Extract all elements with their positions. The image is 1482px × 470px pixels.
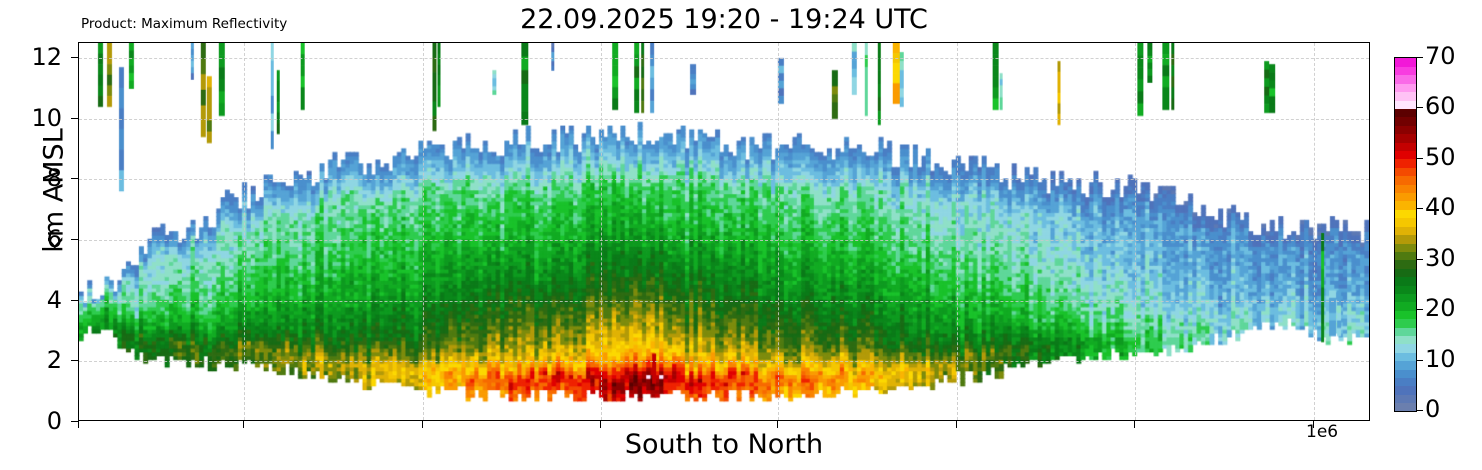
x-axis-label: South to North bbox=[78, 429, 1370, 460]
colorbar-segment bbox=[1395, 251, 1416, 260]
colorbar-tick-mark bbox=[1416, 208, 1423, 209]
x-tick-mark bbox=[777, 421, 778, 428]
colorbar-segment bbox=[1395, 75, 1416, 84]
colorbar-segment bbox=[1395, 226, 1416, 235]
colorbar-segment bbox=[1395, 352, 1416, 361]
colorbar[interactable] bbox=[1394, 57, 1417, 412]
colorbar-segment bbox=[1395, 92, 1416, 101]
plot-axes[interactable] bbox=[78, 42, 1370, 421]
colorbar-tick-mark bbox=[1416, 158, 1423, 159]
y-tick-mark bbox=[71, 57, 78, 58]
product-label: Product: Maximum Reflectivity bbox=[81, 16, 287, 32]
colorbar-segment bbox=[1395, 243, 1416, 252]
radar-cross-section-figure: 22.09.2025 19:20 - 19:24 UTC Product: Ma… bbox=[0, 0, 1482, 470]
x-tick-mark bbox=[1134, 421, 1135, 428]
colorbar-segment bbox=[1395, 260, 1416, 269]
colorbar-segment bbox=[1395, 218, 1416, 227]
y-tick-mark bbox=[71, 118, 78, 119]
colorbar-tick-mark bbox=[1416, 259, 1423, 260]
colorbar-segment bbox=[1395, 66, 1416, 75]
colorbar-tick-label: 20 bbox=[1425, 296, 1456, 320]
reflectivity-heatmap bbox=[79, 43, 1369, 420]
y-axis-label: km AMSL bbox=[39, 41, 70, 341]
colorbar-tick-label: 60 bbox=[1425, 94, 1456, 118]
colorbar-segment bbox=[1395, 125, 1416, 134]
colorbar-segment bbox=[1395, 293, 1416, 302]
colorbar-tick-mark bbox=[1416, 309, 1423, 310]
y-tick-mark bbox=[71, 178, 78, 179]
y-tick-label: 2 bbox=[47, 348, 62, 372]
colorbar-tick-label: 70 bbox=[1425, 44, 1456, 68]
colorbar-segment bbox=[1395, 100, 1416, 109]
colorbar-segment bbox=[1395, 335, 1416, 344]
colorbar-segment bbox=[1395, 403, 1416, 412]
y-tick-mark bbox=[71, 421, 78, 422]
colorbar-segment bbox=[1395, 184, 1416, 193]
colorbar-tick-label: 30 bbox=[1425, 246, 1456, 270]
x-axis-offset-text: 1e6 bbox=[1306, 422, 1338, 442]
colorbar-segment bbox=[1395, 327, 1416, 336]
colorbar-segment bbox=[1395, 117, 1416, 126]
x-tick-mark bbox=[600, 421, 601, 428]
y-tick-mark bbox=[71, 360, 78, 361]
colorbar-segment bbox=[1395, 167, 1416, 176]
colorbar-segment bbox=[1395, 310, 1416, 319]
colorbar-segment bbox=[1395, 302, 1416, 311]
colorbar-segment bbox=[1395, 192, 1416, 201]
y-tick-label: 0 bbox=[47, 409, 62, 433]
colorbar-segment bbox=[1395, 319, 1416, 328]
colorbar-tick-label: 40 bbox=[1425, 195, 1456, 219]
colorbar-segment bbox=[1395, 209, 1416, 218]
colorbar-segment bbox=[1395, 142, 1416, 151]
colorbar-segment bbox=[1395, 386, 1416, 395]
colorbar-segment bbox=[1395, 150, 1416, 159]
y-tick-mark bbox=[71, 300, 78, 301]
x-tick-mark bbox=[78, 421, 79, 428]
x-tick-mark bbox=[243, 421, 244, 428]
colorbar-tick-mark bbox=[1416, 107, 1423, 108]
x-tick-mark bbox=[422, 421, 423, 428]
colorbar-segment bbox=[1395, 201, 1416, 210]
colorbar-segment bbox=[1395, 176, 1416, 185]
colorbar-segment bbox=[1395, 361, 1416, 370]
colorbar-segment bbox=[1395, 58, 1416, 67]
colorbar-segment bbox=[1395, 235, 1416, 244]
colorbar-tick-mark bbox=[1416, 410, 1423, 411]
colorbar-segment bbox=[1395, 377, 1416, 386]
colorbar-tick-label: 50 bbox=[1425, 145, 1456, 169]
colorbar-tick-label: 0 bbox=[1425, 397, 1440, 421]
colorbar-tick-label: 10 bbox=[1425, 347, 1456, 371]
colorbar-tick-mark bbox=[1416, 57, 1423, 58]
colorbar-segment bbox=[1395, 369, 1416, 378]
colorbar-segment bbox=[1395, 134, 1416, 143]
colorbar-segment bbox=[1395, 277, 1416, 286]
colorbar-segment bbox=[1395, 268, 1416, 277]
colorbar-segment bbox=[1395, 159, 1416, 168]
x-tick-mark bbox=[956, 421, 957, 428]
colorbar-segment bbox=[1395, 108, 1416, 117]
y-tick-mark bbox=[71, 239, 78, 240]
colorbar-segment bbox=[1395, 83, 1416, 92]
colorbar-segment bbox=[1395, 344, 1416, 353]
colorbar-segment bbox=[1395, 394, 1416, 403]
colorbar-segment bbox=[1395, 285, 1416, 294]
colorbar-tick-mark bbox=[1416, 360, 1423, 361]
